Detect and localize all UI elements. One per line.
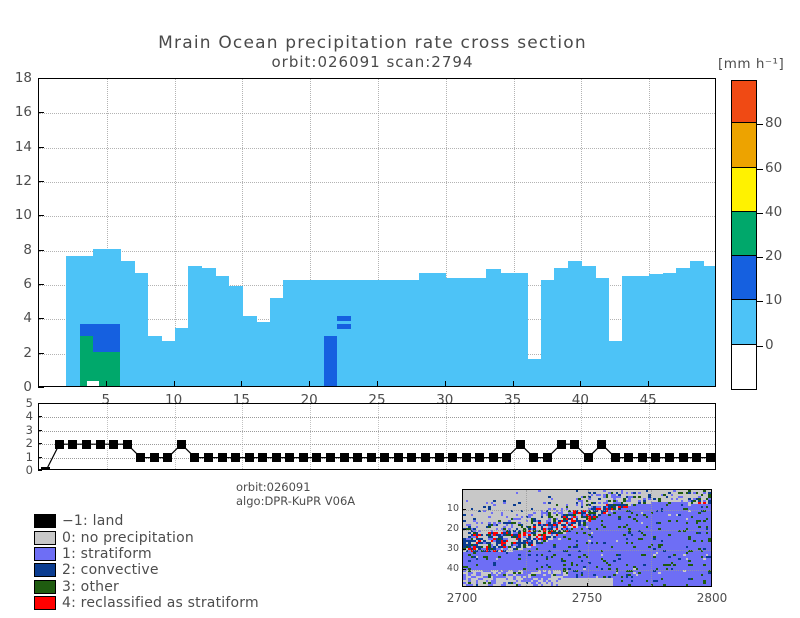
rain-type-marker [543,453,552,462]
profile-column [663,273,677,386]
rain-type-marker [584,453,593,462]
y-axis-label: 0 [4,379,32,395]
profile-column [690,261,704,386]
strip-y-label: 1 [19,450,33,464]
colorbar-band [732,168,756,212]
x-axis-tick [241,381,242,387]
strip-y-label: 3 [19,423,33,437]
profile-core-segment [107,352,121,386]
rain-type-marker [611,453,620,462]
profile-column [622,276,636,386]
profile-column [256,322,270,386]
x-axis-tick [174,381,175,387]
colorbar-band [732,123,756,167]
profile-column [175,328,189,386]
profile-column [147,336,161,386]
colorbar-unit-label: [mm h⁻¹] [718,56,784,72]
rain-type-marker [190,453,199,462]
profile-column [595,278,609,386]
legend-label: 0: no precipitation [62,530,194,546]
rain-type-marker [231,453,240,462]
strip-y-tick [38,403,42,404]
legend-swatch [34,547,56,561]
colorbar-separator [732,255,756,256]
rain-type-marker [96,440,105,449]
legend-swatch [34,580,56,594]
colorbar-tick-label: 60 [765,160,782,176]
rain-type-marker [570,440,579,449]
colorbar-tick [757,169,763,170]
colorbar [731,80,757,390]
rain-type-marker [123,440,132,449]
y-axis-tick [38,112,44,113]
colorbar-separator [732,211,756,212]
profile-column [581,266,595,386]
page-title: Mrain Ocean precipitation rate cross sec… [0,33,745,53]
rain-type-marker [665,453,674,462]
gridline-horizontal [39,113,715,114]
colorbar-band [732,300,756,344]
colorbar-separator [732,344,756,345]
profile-column [161,341,175,386]
profile-column [541,280,555,386]
rain-type-marker [706,453,715,462]
x-axis-tick [648,381,649,387]
colorbar-tick [757,257,763,258]
profile-core-segment [93,324,107,351]
rain-type-marker [638,453,647,462]
profile-column [378,280,392,386]
rain-type-marker [394,453,403,462]
rain-type-marker [421,453,430,462]
y-axis-label: 4 [4,310,32,326]
rain-type-marker [204,453,213,462]
strip-y-tick [38,470,42,471]
profile-column [432,273,446,386]
rain-type-marker [299,453,308,462]
profile-column [459,278,473,386]
rain-type-marker [41,467,50,471]
y-axis-label: 16 [4,104,32,120]
profile-column [500,273,514,386]
y-axis-tick [38,181,44,182]
profile-column [609,341,623,386]
rain-type-marker [435,453,444,462]
rain-type-marker [55,440,64,449]
rain-type-marker [177,440,186,449]
legend-label: 2: convective [62,562,159,578]
colorbar-tick [757,301,763,302]
y-axis-label: 2 [4,345,32,361]
rain-type-marker [258,453,267,462]
profile-column [568,261,582,386]
page-subtitle: orbit:026091 scan:2794 [0,53,745,71]
profile-column [283,280,297,386]
meta-orbit: orbit:026091 [236,481,355,495]
rain-type-marker [218,453,227,462]
colorbar-tick-label: 40 [765,204,782,220]
rain-type-marker [651,453,660,462]
profile-column [80,256,94,386]
y-axis-label: 12 [4,173,32,189]
rain-type-marker [245,453,254,462]
colorbar-band [732,212,756,256]
legend-item: 2: convective [34,562,259,578]
y-axis-tick [38,318,44,319]
strip-y-tick [38,430,42,431]
y-axis-label: 10 [4,207,32,223]
profile-column [66,256,80,386]
y-axis-tick [38,78,44,79]
y-axis-tick [38,250,44,251]
profile-column [134,273,148,386]
rain-type-marker [516,440,525,449]
rain-type-strip-plot [38,403,716,470]
rain-type-marker [529,453,538,462]
profile-core-segment [324,336,338,386]
y-axis-tick [38,147,44,148]
rain-type-marker [109,440,118,449]
x-axis-tick [513,381,514,387]
y-axis-tick [38,353,44,354]
x-axis-tick [377,381,378,387]
profile-column [514,273,528,386]
colorbar-band [732,256,756,300]
strip-y-tick [38,443,42,444]
colorbar-separator [732,167,756,168]
gridline-horizontal [39,216,715,217]
rain-type-marker [82,440,91,449]
gridline-horizontal [39,251,715,252]
rain-type-marker [136,453,145,462]
rain-type-marker [150,453,159,462]
rain-type-marker [489,453,498,462]
rain-type-marker [353,453,362,462]
profile-column [270,298,284,386]
rain-type-marker [163,453,172,462]
y-axis-label: 8 [4,242,32,258]
legend-swatch [34,596,56,610]
y-axis-tick [38,215,44,216]
x-axis-tick [580,381,581,387]
profile-column [676,268,690,386]
gridline-horizontal [39,182,715,183]
x-axis-tick [445,381,446,387]
profile-column [310,280,324,386]
rain-type-marker [68,440,77,449]
profile-core-segment [80,324,94,336]
profile-core-segment [107,324,121,351]
profile-column [364,280,378,386]
profile-column [215,276,229,386]
profile-column [351,280,365,386]
rain-type-marker [312,453,321,462]
rain-type-marker [448,453,457,462]
rain-type-marker [475,453,484,462]
rain-type-marker [557,440,566,449]
colorbar-separator [732,122,756,123]
rain-type-marker [502,453,511,462]
colorbar-tick-label: 80 [765,115,782,131]
rain-type-marker [367,453,376,462]
legend-item: 0: no precipitation [34,529,259,545]
x-axis-tick [309,381,310,387]
profile-column [446,278,460,386]
profile-column [486,269,500,386]
y-axis-label: 14 [4,139,32,155]
profile-column [649,274,663,386]
profile-column [93,249,107,386]
rain-type-marker [597,440,606,449]
profile-column [107,249,121,386]
strip-y-label: 4 [19,409,33,423]
strip-y-tick [38,457,42,458]
strip-y-tick [38,416,42,417]
y-axis-label: 18 [4,70,32,86]
profile-column [202,268,216,386]
colorbar-tick-label: 10 [765,292,782,308]
rain-type-legend: −1: land0: no precipitation1: stratiform… [34,513,259,611]
profile-column [392,280,406,386]
rain-type-marker [380,453,389,462]
legend-swatch [34,563,56,577]
profile-core-segment [337,316,351,321]
legend-label: 3: other [62,579,119,595]
legend-label: −1: land [62,513,124,529]
inset-swath-map [462,489,712,587]
colorbar-band [732,80,756,123]
gridline-horizontal [39,148,715,149]
legend-item: 1: stratiform [34,546,259,562]
profile-column [297,280,311,386]
y-axis-label: 6 [4,276,32,292]
strip-y-label: 2 [19,436,33,450]
rain-type-marker [624,453,633,462]
colorbar-band [732,345,756,389]
legend-item: 3: other [34,579,259,595]
profile-column [242,316,256,386]
legend-item: 4: reclassified as stratiform [34,595,259,611]
meta-info: orbit:026091 algo:DPR-KuPR V06A [236,481,355,508]
profile-gap [87,381,99,386]
profile-column [229,286,243,386]
legend-swatch [34,514,56,528]
profile-column [527,359,541,386]
colorbar-tick [757,213,763,214]
y-axis-tick [38,387,44,388]
legend-item: −1: land [34,513,259,529]
profile-column [419,273,433,386]
legend-label: 1: stratiform [62,546,152,562]
profile-core-segment [80,336,94,386]
profile-column [636,276,650,386]
rain-type-marker [272,453,281,462]
legend-label: 4: reclassified as stratiform [62,595,259,611]
profile-column [473,278,487,386]
strip-y-label: 0 [19,463,33,477]
y-axis-tick [38,284,44,285]
profile-column [405,280,419,386]
legend-swatch [34,531,56,545]
colorbar-tick-label: 20 [765,248,782,264]
cross-section-plot [38,78,716,387]
profile-column [554,268,568,386]
meta-algo: algo:DPR-KuPR V06A [236,495,355,509]
rain-type-marker [407,453,416,462]
rain-type-marker [340,453,349,462]
colorbar-tick-label: 0 [765,337,774,353]
rain-type-marker [692,453,701,462]
profile-column [337,280,351,386]
profile-column [703,266,716,386]
profile-core-segment [337,324,351,329]
x-axis-tick [106,381,107,387]
strip-y-label: 5 [19,396,33,410]
rain-type-marker [462,453,471,462]
profile-column [324,280,338,386]
profile-column [188,266,202,386]
colorbar-tick [757,346,763,347]
rain-type-marker [679,453,688,462]
rain-type-marker [326,453,335,462]
rain-type-marker [285,453,294,462]
profile-column [120,261,134,386]
colorbar-tick [757,124,763,125]
colorbar-separator [732,299,756,300]
